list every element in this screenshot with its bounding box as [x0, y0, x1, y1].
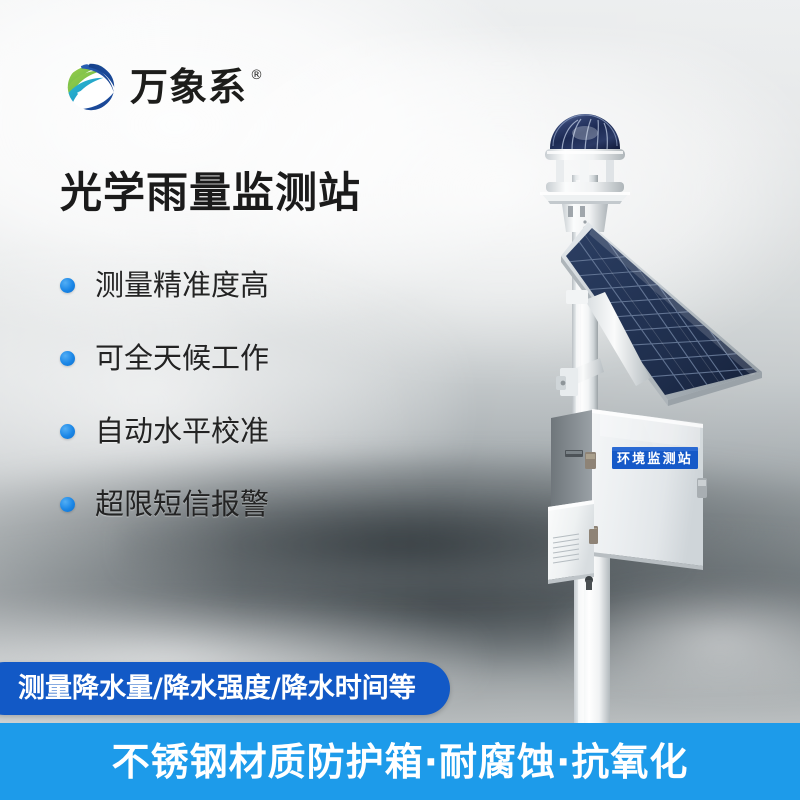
feature-label: 测量精准度高 — [95, 268, 269, 302]
feature-label: 自动水平校准 — [95, 414, 269, 448]
measurement-capabilities-text: 测量降水量/降水强度/降水时间等 — [18, 674, 416, 704]
feature-label: 超限短信报警 — [95, 487, 269, 521]
registered-trademark-icon: ® — [250, 69, 263, 82]
list-item: 超限短信报警 — [60, 477, 390, 531]
brand-logo: 万象系 ® — [62, 58, 263, 116]
feature-list: 测量精准度高 可全天候工作 自动水平校准 超限短信报警 — [60, 258, 390, 550]
blue-dot-bullet-icon — [60, 351, 75, 366]
feature-label: 可全天候工作 — [95, 341, 269, 375]
blue-dot-bullet-icon — [60, 278, 75, 293]
brand-name: 万象系 — [130, 67, 247, 107]
blue-dot-bullet-icon — [60, 424, 75, 439]
material-features-text: 不锈钢材质防护箱·耐腐蚀·抗氧化 — [112, 740, 689, 784]
list-item: 自动水平校准 — [60, 404, 390, 458]
measurement-capabilities-banner: 测量降水量/降水强度/降水时间等 — [0, 662, 450, 715]
list-item: 可全天候工作 — [60, 331, 390, 385]
product-banner: 环境监测站 — [0, 0, 800, 800]
material-features-bar: 不锈钢材质防护箱·耐腐蚀·抗氧化 — [0, 723, 800, 800]
globe-sphere-logo-icon — [62, 58, 120, 116]
page-title: 光学雨量监测站 — [60, 168, 361, 218]
blue-dot-bullet-icon — [60, 497, 75, 512]
list-item: 测量精准度高 — [60, 258, 390, 312]
